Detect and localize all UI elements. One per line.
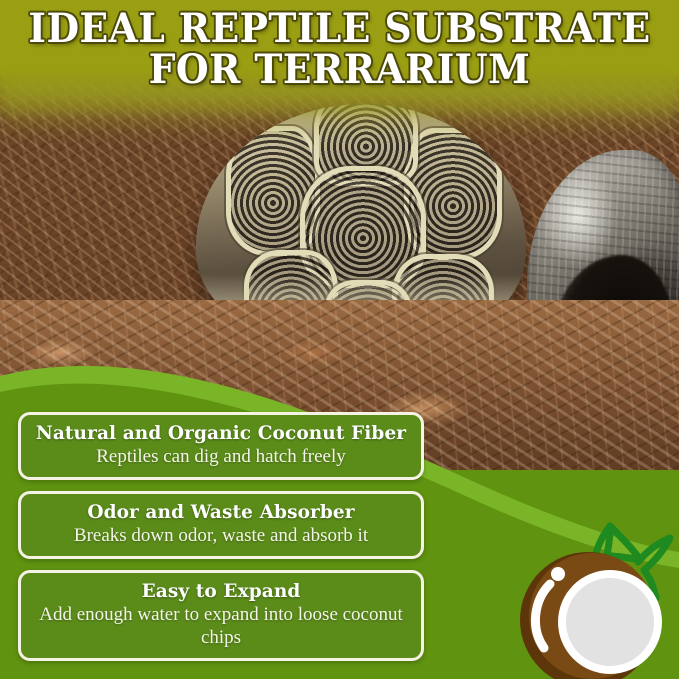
feature-description: Breaks down odor, waste and absorb it: [31, 524, 411, 547]
title-line-2: FOR TERRARIUM: [20, 49, 658, 90]
product-feature-poster: IDEAL REPTILE SUBSTRATE FOR TERRARIUM Na…: [0, 0, 679, 679]
coconut-icon: [506, 516, 679, 679]
feature-box-2: Odor and Waste Absorber Breaks down odor…: [18, 491, 424, 559]
poster-title: IDEAL REPTILE SUBSTRATE FOR TERRARIUM: [0, 8, 679, 90]
title-line-1: IDEAL REPTILE SUBSTRATE: [20, 8, 658, 49]
feature-description: Reptiles can dig and hatch freely: [31, 445, 411, 468]
coconut-highlight-dot: [551, 567, 565, 581]
feature-title: Natural and Organic Coconut Fiber: [31, 422, 411, 445]
feature-box-1: Natural and Organic Coconut Fiber Reptil…: [18, 412, 424, 480]
feature-title: Easy to Expand: [31, 580, 411, 603]
feature-title: Odor and Waste Absorber: [31, 501, 411, 524]
coconut-core: [566, 578, 654, 666]
feature-box-3: Easy to Expand Add enough water to expan…: [18, 570, 424, 661]
feature-description: Add enough water to expand into loose co…: [31, 603, 411, 649]
feature-list: Natural and Organic Coconut Fiber Reptil…: [18, 412, 424, 672]
